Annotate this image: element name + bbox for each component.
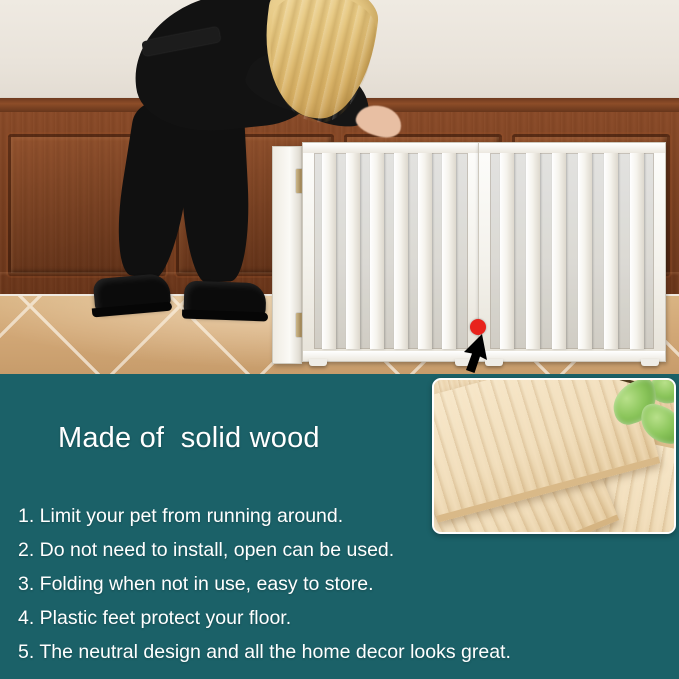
gate-slat	[604, 153, 618, 349]
gate-slat	[394, 153, 408, 349]
plastic-foot	[641, 359, 659, 366]
list-item: 3. Folding when not in use, easy to stor…	[18, 571, 658, 598]
gate-slat	[322, 153, 336, 349]
list-item: 4. Plastic feet protect your floor.	[18, 605, 658, 632]
solid-wood-inset-photo	[432, 378, 676, 534]
gate-slat	[346, 153, 360, 349]
gate-slat	[552, 153, 566, 349]
gate-slat	[442, 153, 456, 349]
boot-sole-right	[182, 310, 268, 322]
gate-rail-top	[479, 143, 665, 153]
gate-frame-inner	[490, 153, 654, 349]
pointer-arrow-icon	[452, 330, 498, 374]
gate-panel-center	[302, 142, 480, 362]
page-title: Made of solid wood	[58, 422, 320, 455]
gate-slat	[526, 153, 540, 349]
gate-panel-right	[478, 142, 666, 362]
gate-rail-bottom	[479, 351, 665, 361]
product-lifestyle-photo	[0, 0, 679, 374]
plastic-foot	[309, 359, 327, 366]
list-item: 2. Do not need to install, open can be u…	[18, 537, 658, 564]
gate-frame-inner	[314, 153, 468, 349]
gate-slat	[418, 153, 432, 349]
gate-slat	[578, 153, 592, 349]
gate-slat	[500, 153, 514, 349]
product-feature-image: Made of solid wood 1. Limit your pet fro…	[0, 0, 679, 679]
gate-panel-left-folded	[272, 146, 302, 364]
gate-slat	[630, 153, 644, 349]
list-item: 5. The neutral design and all the home d…	[18, 639, 658, 666]
gate-slat	[370, 153, 384, 349]
gate-rail-top	[303, 143, 479, 153]
